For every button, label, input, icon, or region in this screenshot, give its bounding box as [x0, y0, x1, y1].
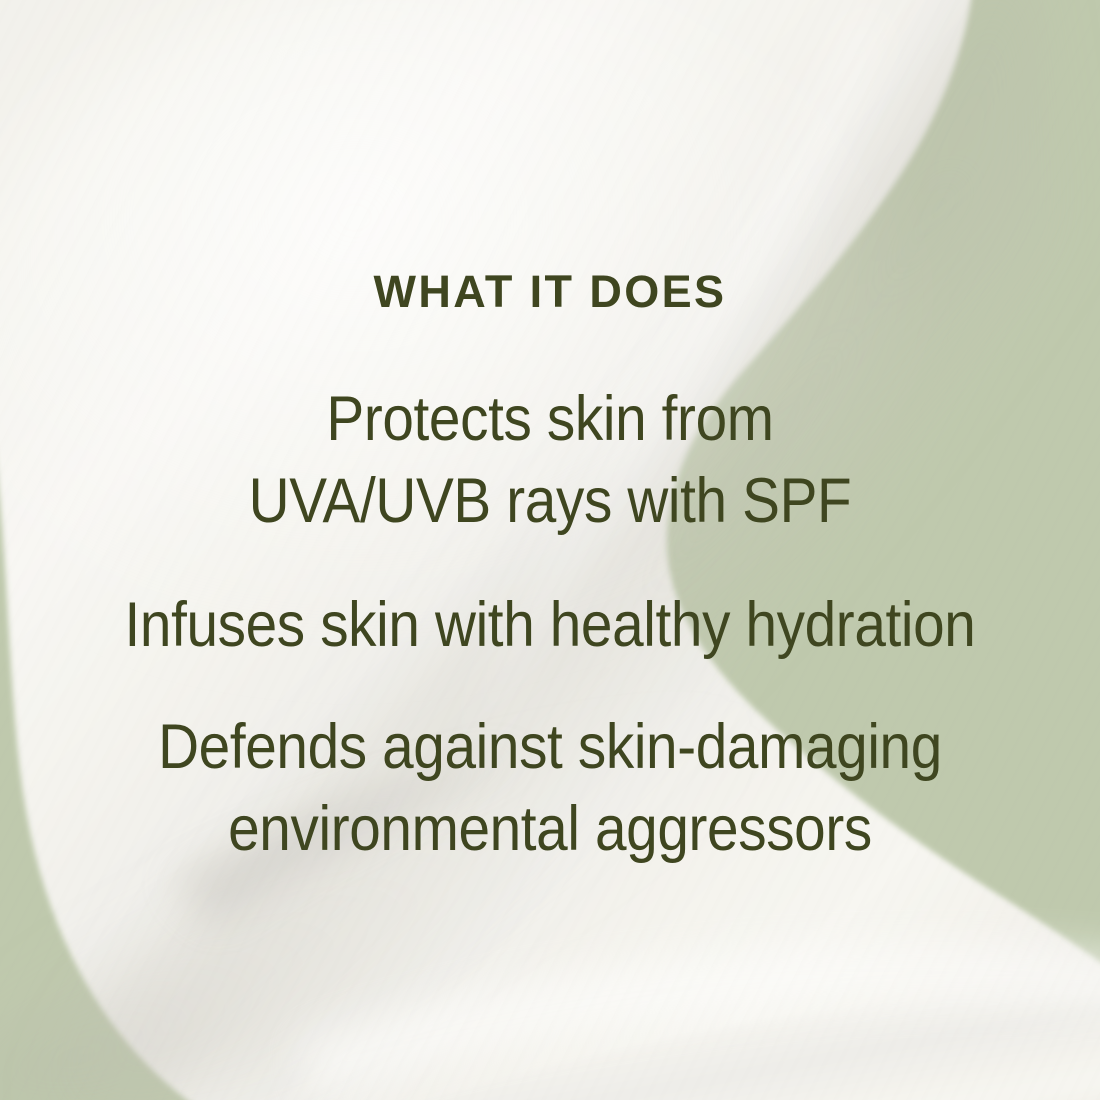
- benefits-text-content: WHAT IT DOES Protects skin from UVA/UVB …: [0, 0, 1100, 1100]
- benefit-line: Infuses skin with healthy hydration: [55, 584, 1045, 666]
- benefit-item-spf-protection: Protects skin from UVA/UVB rays with SPF: [55, 378, 1045, 542]
- page-title: WHAT IT DOES: [0, 266, 1100, 318]
- benefit-line: Defends against skin-damaging: [55, 706, 1045, 788]
- benefit-line: UVA/UVB rays with SPF: [55, 460, 1045, 542]
- product-benefits-card: WHAT IT DOES Protects skin from UVA/UVB …: [0, 0, 1100, 1100]
- benefit-item-hydration: Infuses skin with healthy hydration: [55, 584, 1045, 666]
- benefit-item-environmental-defense: Defends against skin-damaging environmen…: [55, 706, 1045, 870]
- benefit-line: Protects skin from: [55, 378, 1045, 460]
- benefit-line: environmental aggressors: [55, 788, 1045, 870]
